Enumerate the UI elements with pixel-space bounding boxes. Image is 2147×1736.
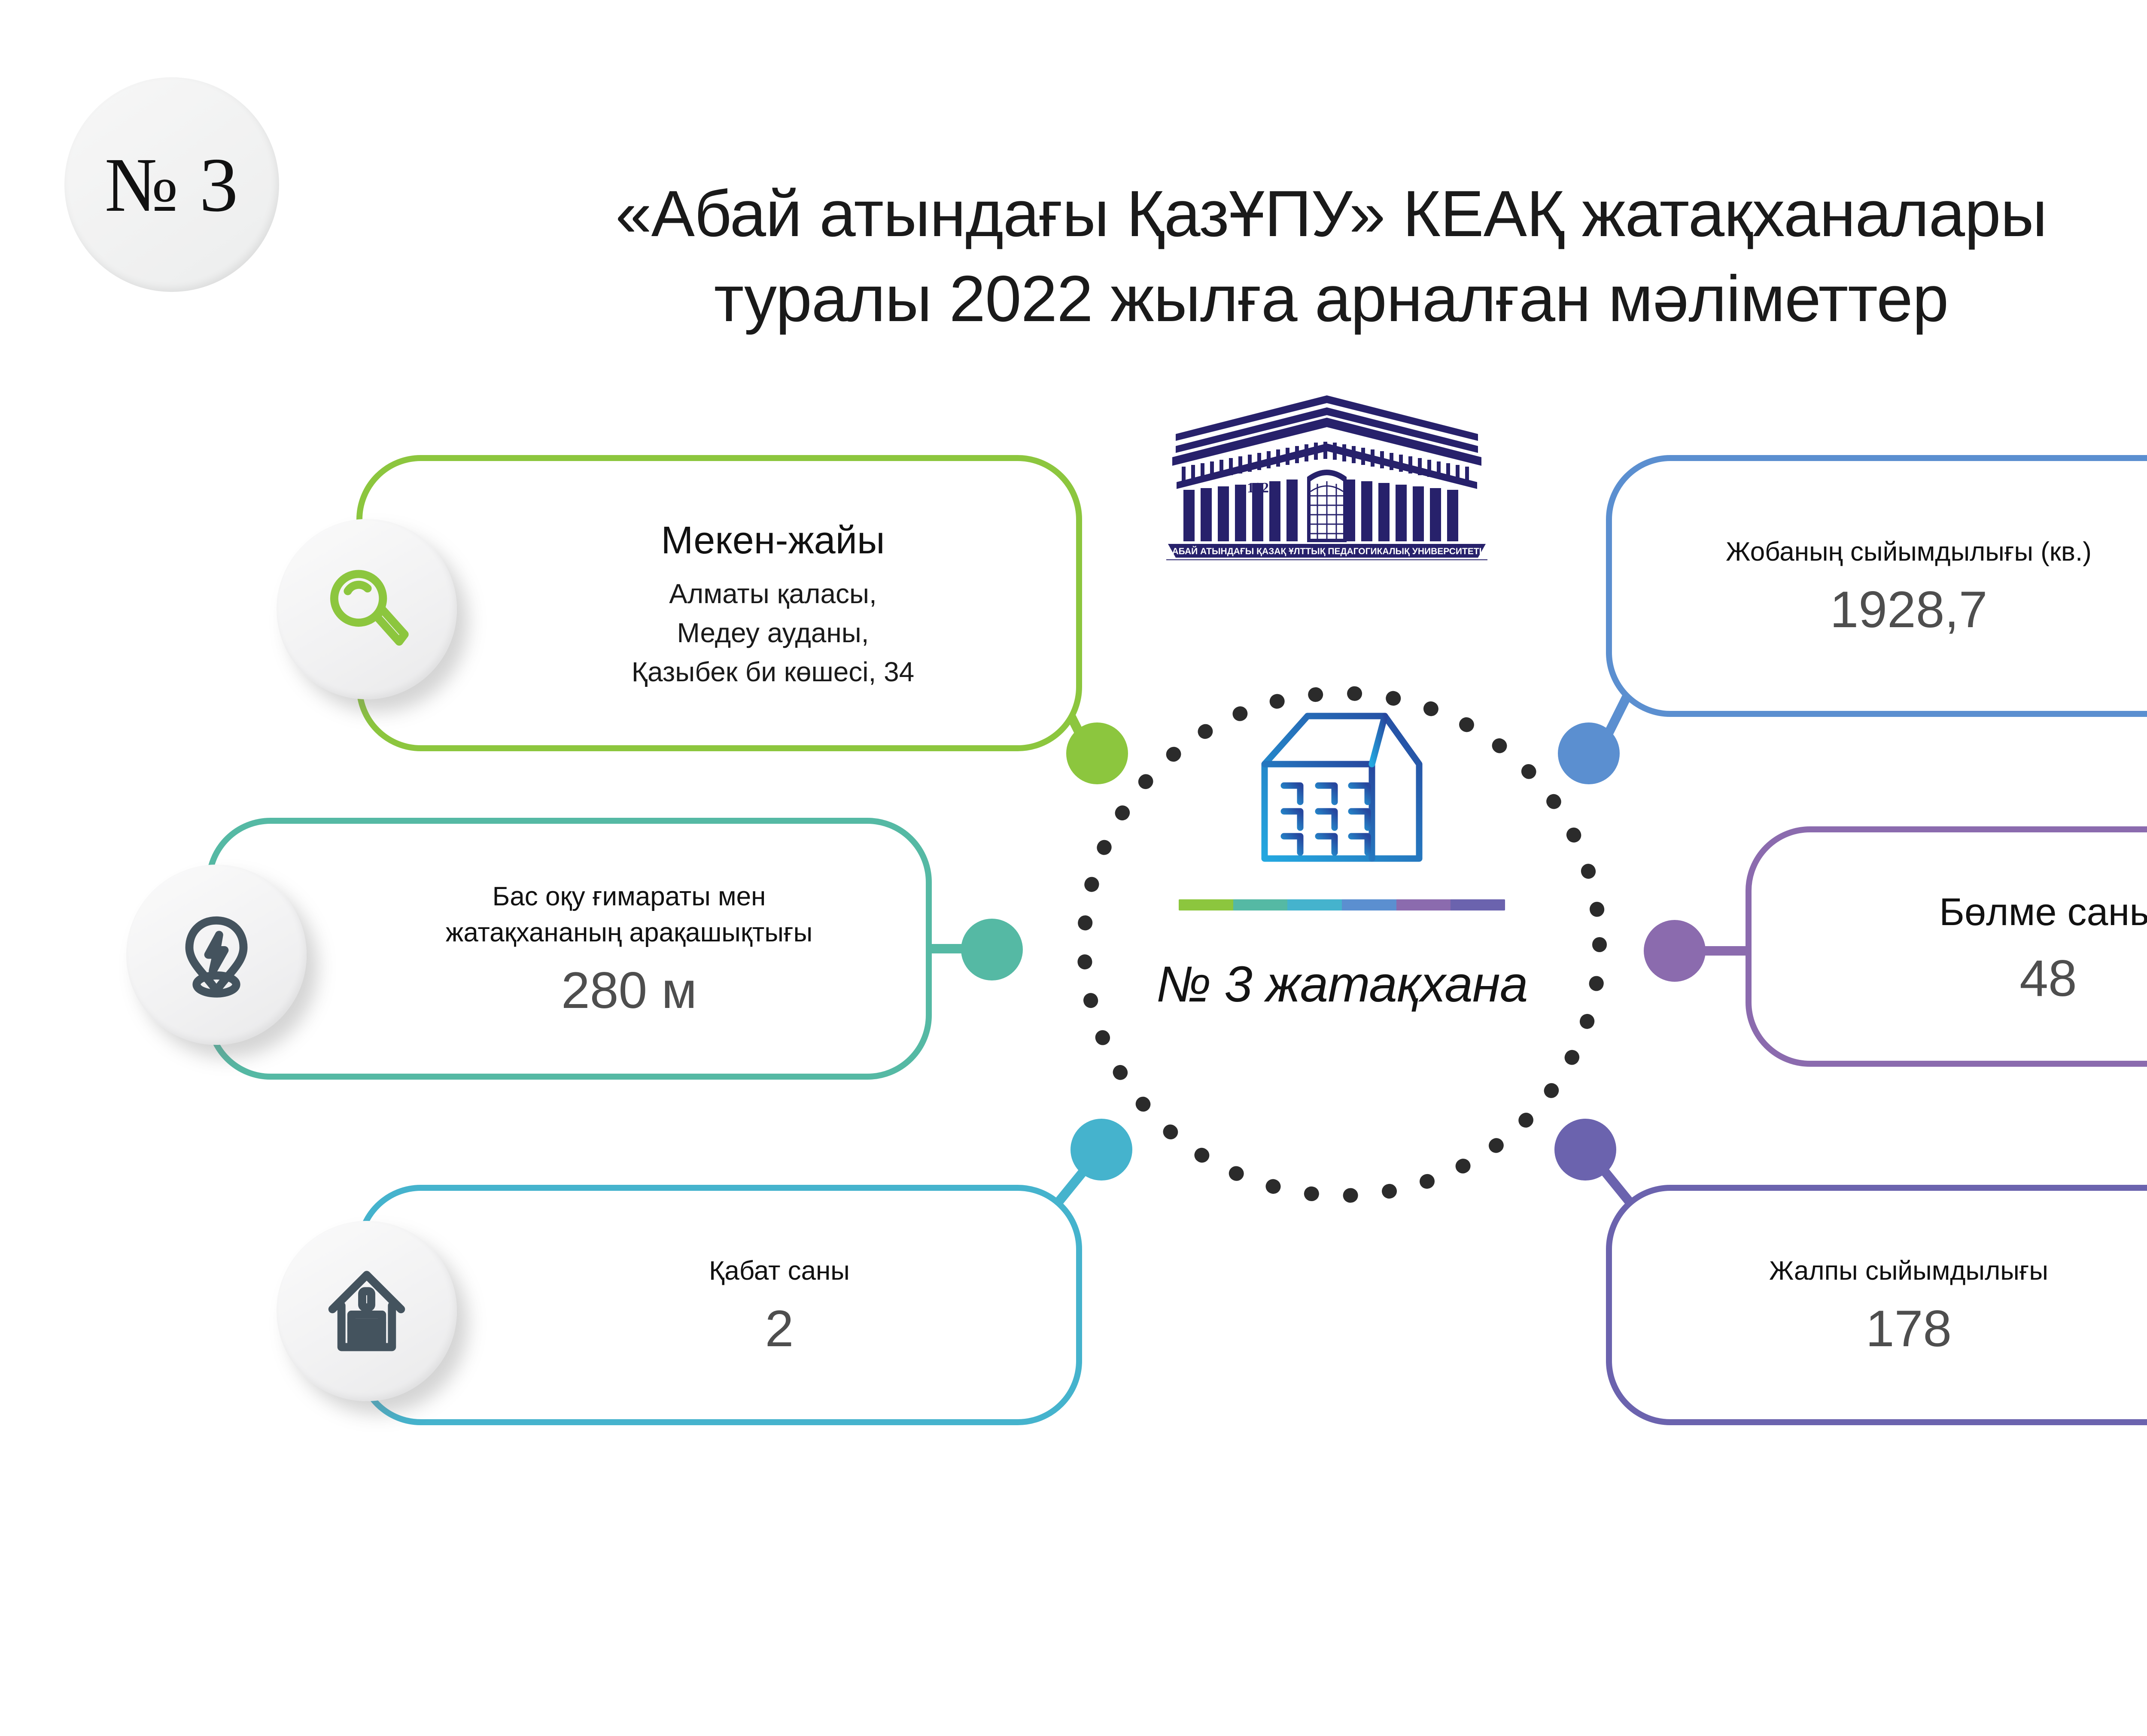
card-project-caption: Жобаның сыйымдылығы (кв.) bbox=[1726, 534, 2092, 570]
center-label: № 3 жатақхана bbox=[1056, 955, 1627, 1014]
card-address-line-3: Қазыбек би көшесі, 34 bbox=[632, 653, 915, 692]
slide-number-badge: № 3 bbox=[64, 77, 288, 300]
badge-circle: № 3 bbox=[64, 77, 279, 292]
bar-segment-2 bbox=[1233, 899, 1288, 910]
card-distance-caption-line-1: Бас оқу ғимараты мен bbox=[493, 879, 766, 915]
bar-segment-1 bbox=[1179, 899, 1233, 910]
card-address-caption: Мекен-жайы bbox=[661, 515, 885, 567]
card-rooms[interactable]: Бөлме саны 48 bbox=[1746, 826, 2147, 1067]
bar-segment-3 bbox=[1287, 899, 1342, 910]
bar-segment-5 bbox=[1396, 899, 1451, 910]
card-total-caption: Жалпы сыйымдылығы bbox=[1769, 1253, 2048, 1289]
card-address[interactable]: Мекен-жайы Алматы қаласы, Медеу ауданы, … bbox=[356, 455, 1082, 751]
dormitory-building-icon bbox=[1252, 704, 1432, 871]
card-distance-caption-line-2: жатақхананың арақашықтығы bbox=[446, 915, 812, 951]
abai-university-logo: АБАЙ АТЫНДАҒЫ ҚАЗАҚ ҰЛТТЫҚ ПЕДАГОГИКАЛЫҚ… bbox=[1159, 393, 1494, 560]
logo-year: 1928 bbox=[1247, 480, 1276, 496]
node-distance bbox=[961, 919, 1023, 980]
bar-segment-4 bbox=[1342, 899, 1396, 910]
card-rooms-value: 48 bbox=[2019, 950, 2077, 1007]
card-rooms-caption: Бөлме саны bbox=[1939, 886, 2147, 939]
bar-segment-6 bbox=[1451, 899, 1505, 910]
accent-color-bar bbox=[1179, 899, 1505, 910]
card-floors[interactable]: Қабат саны 2 bbox=[356, 1185, 1082, 1425]
center-hub: № 3 жатақхана bbox=[1056, 678, 1627, 1211]
card-project-capacity[interactable]: Жобаның сыйымдылығы (кв.) 1928,7 bbox=[1606, 455, 2147, 717]
card-floors-caption: Қабат саны bbox=[709, 1253, 850, 1289]
badge-label: № 3 bbox=[64, 77, 279, 292]
node-rooms bbox=[1644, 920, 1706, 982]
card-address-line-1: Алматы қаласы, bbox=[632, 574, 915, 613]
card-address-line-2: Медеу ауданы, bbox=[632, 613, 915, 653]
card-total-capacity[interactable]: Жалпы сыйымдылығы 178 bbox=[1606, 1185, 2147, 1425]
logo-subtitle: АБАЙ АТЫНДАҒЫ ҚАЗАҚ ҰЛТТЫҚ ПЕДАГОГИКАЛЫҚ… bbox=[1172, 546, 1482, 556]
card-distance-value: 280 м bbox=[561, 962, 697, 1019]
logo-graphic: АБАЙ АТЫНДАҒЫ ҚАЗАҚ ҰЛТТЫҚ ПЕДАГОГИКАЛЫҚ… bbox=[1159, 393, 1494, 560]
card-total-value: 178 bbox=[1866, 1300, 1952, 1357]
page-title-line-2: туралы 2022 жылға арналған мәліметтер bbox=[429, 257, 2147, 342]
page-title: «Абай атындағы ҚазҰПУ» КЕАҚ жатақханалар… bbox=[429, 172, 2147, 341]
page-title-line-1: «Абай атындағы ҚазҰПУ» КЕАҚ жатақханалар… bbox=[429, 172, 2147, 257]
card-floors-value: 2 bbox=[765, 1300, 794, 1357]
card-distance[interactable]: Бас оқу ғимараты мен жатақхананың арақаш… bbox=[206, 818, 932, 1080]
card-project-value: 1928,7 bbox=[1830, 581, 1987, 638]
